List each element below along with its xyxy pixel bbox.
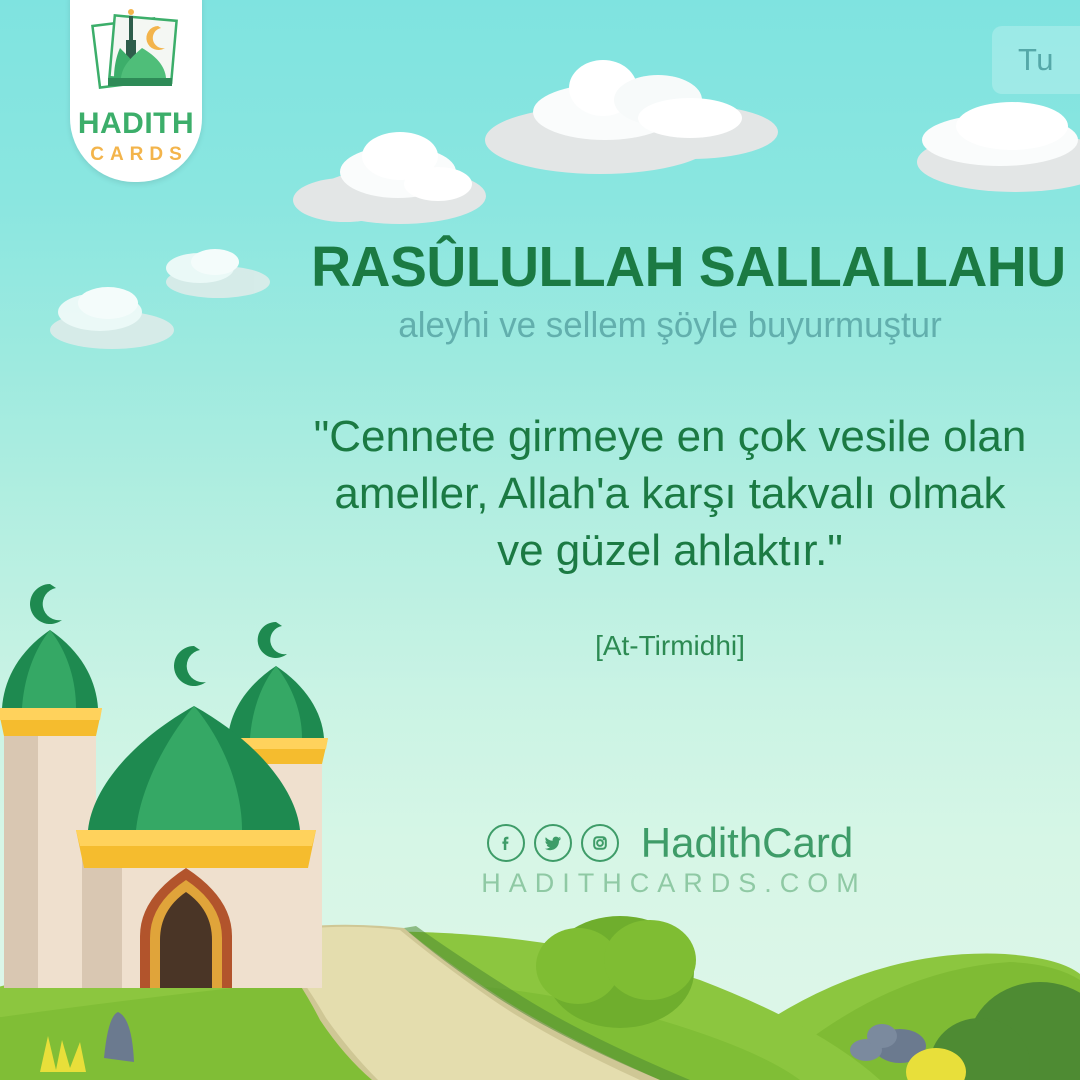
language-badge[interactable]: Tu	[992, 26, 1080, 94]
mosque-photo-frames-icon	[84, 8, 188, 100]
logo-hadith-text: HADITH	[78, 109, 194, 139]
social-row: HadithCard	[487, 822, 853, 864]
page-title: RASÛLULLAH SALLALLAHU	[311, 238, 1029, 298]
page-subtitle: aleyhi ve sellem şöyle buyurmuştur	[311, 304, 1029, 345]
website-url[interactable]: HADITHCARDS.COM	[473, 868, 867, 899]
facebook-icon[interactable]	[487, 824, 525, 862]
cloud-right-top	[917, 102, 1080, 192]
cloud-small-left-lower	[50, 287, 174, 349]
twitter-icon[interactable]	[534, 824, 572, 862]
crescent-right	[258, 622, 287, 658]
hadith-card: HADITH CARDS Tu RASÛLULLAH SALLALLAHU al…	[0, 0, 1080, 1080]
cloud-large-top	[485, 60, 778, 174]
crescent-center	[174, 646, 206, 686]
quote-line: "Cennete girmeye en çok vesile olan	[300, 408, 1040, 465]
footer-block: HadithCard HADITHCARDS.COM	[300, 822, 1040, 899]
logo-badge[interactable]: HADITH CARDS	[70, 0, 202, 182]
instagram-icon[interactable]	[581, 824, 619, 862]
logo-cards-text: CARDS	[84, 145, 188, 164]
mosque-illustration	[0, 568, 340, 988]
hadith-quote: "Cennete girmeye en çok vesile olan amel…	[300, 408, 1040, 580]
social-handle[interactable]: HadithCard	[641, 822, 853, 864]
cloud-small-left-upper	[166, 249, 270, 298]
cloud-medium-upper-left	[293, 132, 486, 224]
quote-line: ameller, Allah'a karşı takvalı olmak	[300, 465, 1040, 522]
crescent-left	[30, 584, 62, 624]
quote-line: ve güzel ahlaktır."	[300, 522, 1040, 579]
hadith-source: [At-Tirmidhi]	[300, 630, 1040, 662]
heading-block: RASÛLULLAH SALLALLAHU aleyhi ve sellem ş…	[300, 238, 1040, 345]
